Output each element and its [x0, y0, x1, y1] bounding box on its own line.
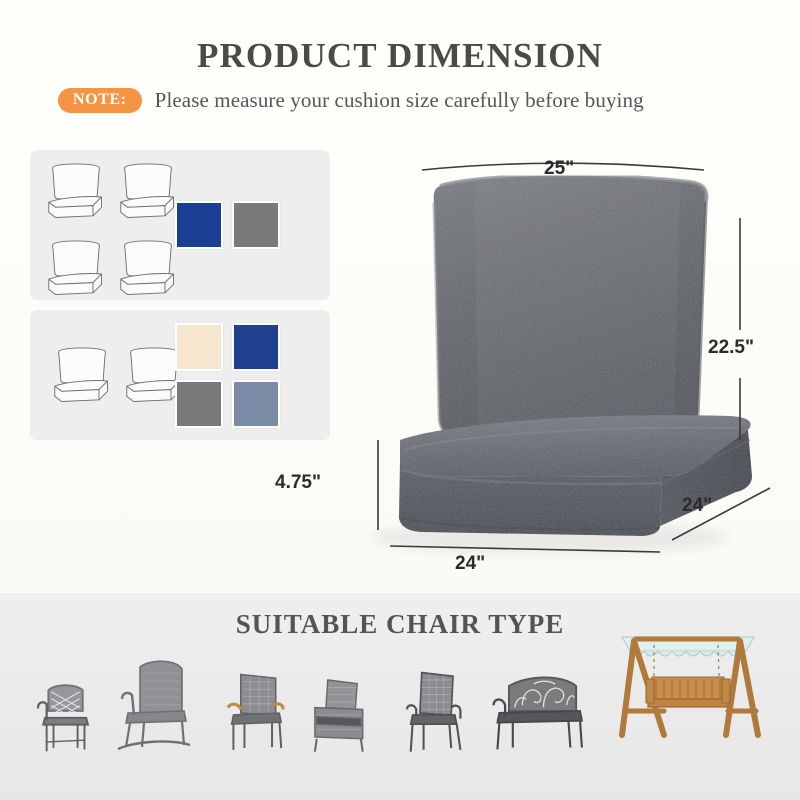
color-swatch-slate-blue[interactable]: [232, 380, 280, 428]
note-row: NOTE: Please measure your cushion size c…: [58, 88, 644, 113]
chair-type-wicker-dining-chair-wood-arms: [215, 667, 289, 760]
dimension-label-back-height: 22.5": [708, 337, 754, 359]
metal-scroll-bench-icon: [484, 667, 584, 755]
cushion-item: [48, 342, 116, 415]
dimension-label-back-width: 25": [544, 158, 574, 180]
wooden-porch-swing-icon: [608, 607, 768, 755]
color-swatch-grid: [175, 201, 280, 249]
product-infographic: PRODUCT DIMENSION NOTE: Please measure y…: [0, 0, 800, 800]
set-panel-four-piece: [30, 150, 330, 300]
chair-type-metal-scroll-bench: [484, 667, 584, 760]
chair-type-cast-aluminum-lattice-chair: [26, 673, 95, 760]
product-image-with-dimensions: 25" 22.5" 4.75" 24" 24": [300, 140, 800, 590]
wicker-rocking-chair-icon: [110, 655, 196, 755]
color-swatch-gray[interactable]: [175, 380, 223, 428]
cushion-grid: [48, 342, 188, 415]
cushion-line-drawing: [48, 342, 116, 410]
chair-type-wicker-armchair: [302, 669, 377, 760]
chair-type-wooden-porch-swing: [608, 607, 768, 760]
wicker-dining-chair-wood-arms-icon: [215, 667, 289, 755]
cushion-grid: [42, 158, 182, 308]
mesh-dining-chair-icon: [396, 667, 468, 755]
chair-type-mesh-dining-chair: [396, 667, 468, 760]
cushion-line-drawing: [114, 235, 182, 303]
chair-type-wicker-rocking-chair: [110, 655, 196, 760]
product-dimension-section: PRODUCT DIMENSION NOTE: Please measure y…: [0, 0, 800, 593]
note-text: Please measure your cushion size careful…: [155, 88, 644, 113]
dimension-label-seat-thickness: 4.75": [275, 472, 321, 494]
color-swatch-gray[interactable]: [232, 201, 280, 249]
cushion-item: [42, 158, 110, 231]
color-swatch-grid: [175, 323, 280, 428]
wicker-armchair-icon: [302, 669, 377, 755]
cushion-product-illustration: [300, 140, 800, 590]
cushion-item: [114, 158, 182, 231]
note-badge: NOTE:: [58, 88, 142, 113]
color-swatch-navy-blue[interactable]: [175, 201, 223, 249]
cushion-item: [114, 235, 182, 308]
color-swatch-navy-blue[interactable]: [232, 323, 280, 371]
cast-aluminum-lattice-chair-icon: [26, 673, 95, 756]
chair-type-strip: [0, 648, 800, 798]
cushion-line-drawing: [42, 158, 110, 226]
cushion-line-drawing: [114, 158, 182, 226]
dimension-label-seat-depth: 24": [682, 495, 712, 517]
set-panel-two-piece: [30, 310, 330, 440]
cushion-line-drawing: [42, 235, 110, 303]
suitable-chair-type-section: SUITABLE CHAIR TYPE: [0, 593, 800, 800]
color-swatch-beige[interactable]: [175, 323, 223, 371]
page-title: PRODUCT DIMENSION: [0, 36, 800, 76]
dimension-label-seat-width: 24": [455, 553, 485, 575]
cushion-item: [42, 235, 110, 308]
